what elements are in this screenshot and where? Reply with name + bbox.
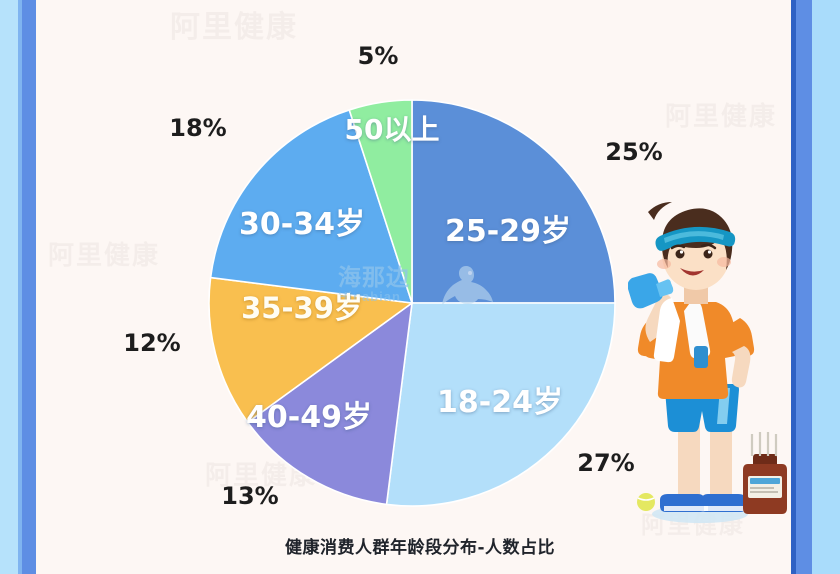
medicine-label-line-1 (750, 487, 774, 489)
right-eye (704, 250, 713, 259)
left-edge-stripe-light (0, 0, 18, 574)
percent-label-40-49: 13% (221, 482, 278, 510)
left-eye (676, 250, 685, 259)
medicine-label-band (750, 478, 780, 484)
percent-label-25-29: 25% (605, 138, 662, 166)
tennis-ball (637, 493, 655, 511)
right-leg (710, 420, 732, 502)
left-shoe-sole (664, 506, 708, 511)
left-cheek (657, 259, 671, 269)
boy-drinking-water-illustration (628, 196, 808, 536)
percent-label-35-39: 12% (123, 329, 180, 357)
chart-caption: 健康消费人群年龄段分布-人数占比 (0, 533, 840, 558)
right-edge-stripe-light (812, 0, 840, 574)
percent-label-18-24: 27% (577, 449, 634, 477)
straws (752, 432, 776, 456)
illustration-svg (628, 196, 808, 536)
chart-screenshot: 阿里健康 阿里健康 阿里健康 阿里健康 阿里健康 海那边 Hinabian 25… (0, 0, 840, 574)
hair-tuft (648, 202, 672, 220)
left-eye-glint (680, 250, 683, 253)
medicine-label-line-2 (750, 491, 778, 493)
percent-label-50-plus: 5% (358, 42, 399, 70)
medicine-bottle-cap (753, 454, 777, 464)
armband-device (694, 346, 708, 368)
pie-svg (209, 100, 615, 506)
right-shoe-sole (704, 506, 748, 511)
left-leg (678, 420, 700, 502)
right-cheek (717, 257, 731, 267)
left-edge-stripe-dark (22, 0, 36, 574)
pie-chart (209, 100, 615, 506)
right-arm (732, 346, 751, 387)
percent-label-30-34: 18% (169, 114, 226, 142)
right-eye-glint (708, 250, 711, 253)
pie-slice-25-29岁[interactable] (412, 100, 615, 303)
